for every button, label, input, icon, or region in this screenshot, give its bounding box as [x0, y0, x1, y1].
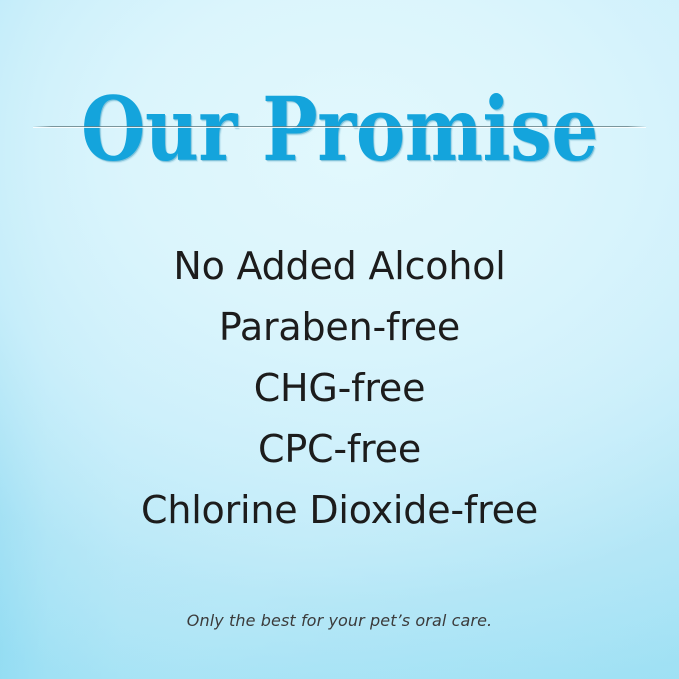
- card-footer: Only the best for your pet’s oral care.: [0, 610, 679, 632]
- our-promise-card: Our Promise No Added Alcohol Paraben-fre…: [0, 0, 679, 679]
- footer-tagline: Only the best for your pet’s oral care.: [0, 610, 679, 632]
- list-item: CHG-free: [0, 358, 679, 419]
- title-divider: [33, 126, 646, 127]
- card-header: Our Promise: [0, 0, 679, 132]
- list-item: No Added Alcohol: [0, 236, 679, 297]
- list-item: Chlorine Dioxide-free: [0, 480, 679, 541]
- page-title: Our Promise: [54, 77, 624, 181]
- list-item: CPC-free: [0, 419, 679, 480]
- list-item: Paraben-free: [0, 297, 679, 358]
- claims-list: No Added Alcohol Paraben-free CHG-free C…: [0, 236, 679, 541]
